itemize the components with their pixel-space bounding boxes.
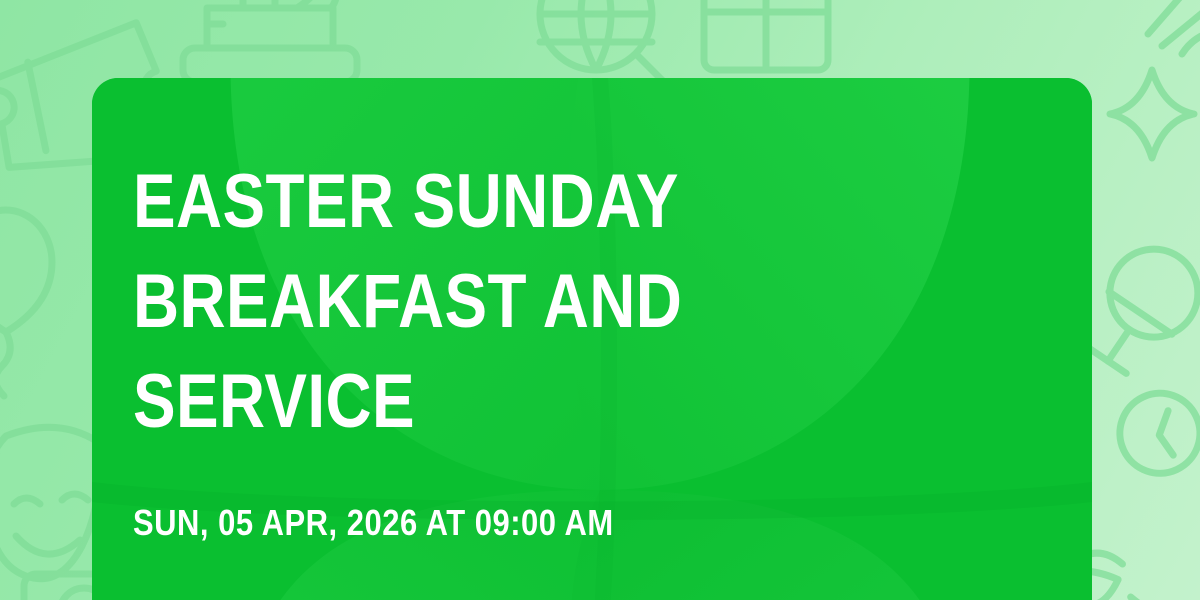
confetti-icon bbox=[1148, 0, 1200, 54]
balloon-icon bbox=[0, 210, 52, 396]
calendar-icon bbox=[1109, 382, 1200, 485]
event-title: Easter Sunday Breakfast and Service bbox=[133, 78, 905, 452]
sparkle-icon bbox=[1110, 70, 1194, 158]
globe-icon bbox=[540, 0, 670, 88]
cake-icon bbox=[183, 0, 357, 82]
event-datetime: Sun, 05 Apr, 2026 at 09:00 AM bbox=[133, 452, 923, 541]
gift-icon bbox=[704, 0, 828, 70]
event-banner: Easter Sunday Breakfast and Service Sun,… bbox=[0, 0, 1200, 600]
card-text-content: Easter Sunday Breakfast and Service Sun,… bbox=[133, 78, 1052, 541]
event-card[interactable]: Easter Sunday Breakfast and Service Sun,… bbox=[92, 78, 1092, 600]
